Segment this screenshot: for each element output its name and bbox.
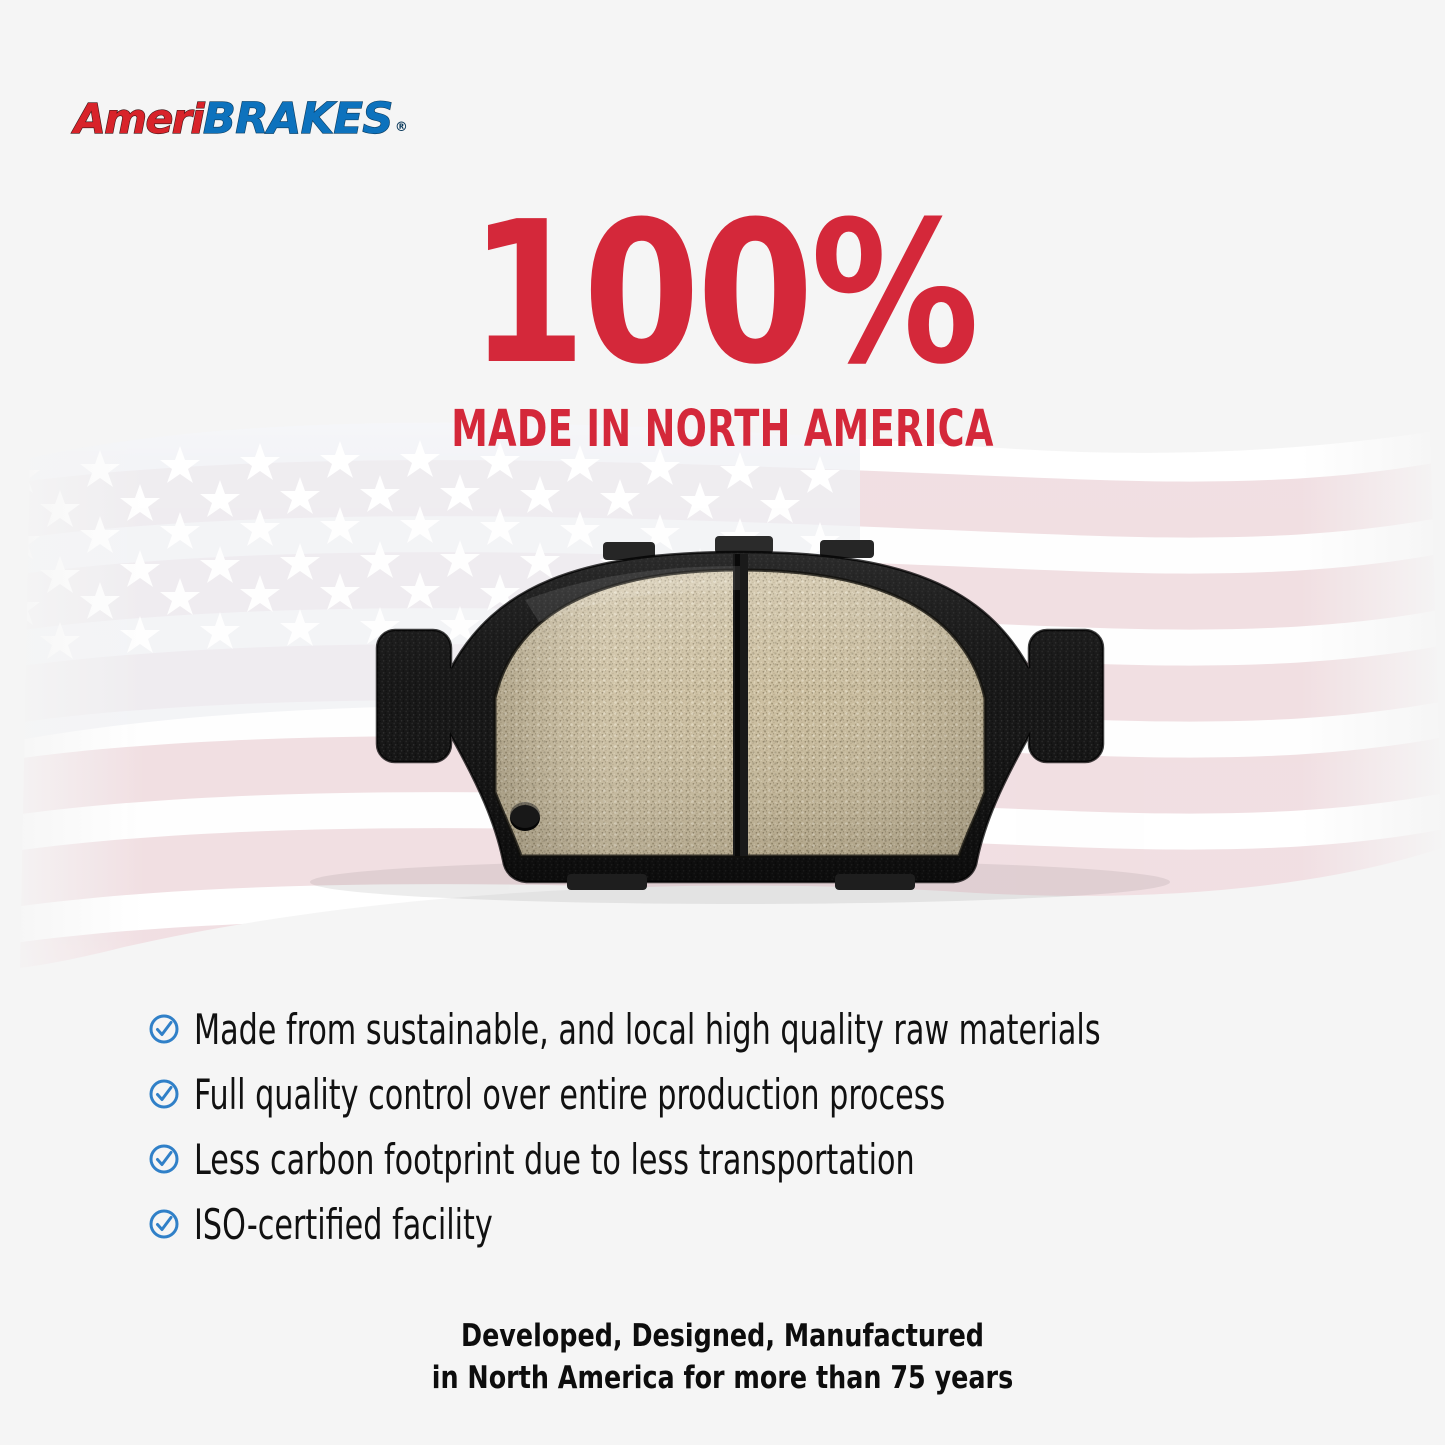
headline-percent: 100%: [101, 196, 1344, 392]
list-item: Full quality control over entire product…: [148, 1068, 1348, 1133]
check-circle-icon: [148, 1078, 180, 1110]
list-item-label: Full quality control over entire product…: [194, 1068, 945, 1122]
list-item: Less carbon footprint due to less transp…: [148, 1133, 1348, 1198]
check-circle-icon: [148, 1013, 180, 1045]
list-item-label: Made from sustainable, and local high qu…: [194, 1003, 1101, 1057]
list-item-label: ISO-certified facility: [194, 1198, 493, 1252]
footer-tagline: Developed, Designed, Manufactured in Nor…: [0, 1315, 1445, 1399]
list-item-label: Less carbon footprint due to less transp…: [194, 1133, 915, 1187]
brake-pad-mounting-hole: [510, 802, 540, 831]
brake-pad-product-image: [195, 530, 1285, 960]
list-item: Made from sustainable, and local high qu…: [148, 1003, 1348, 1068]
brand-logo[interactable]: Ameri BRAKES ®: [74, 98, 408, 141]
list-item: ISO-certified facility: [148, 1198, 1348, 1263]
feature-bullet-list: Made from sustainable, and local high qu…: [148, 1003, 1348, 1263]
logo-text-ameri: Ameri: [74, 99, 203, 140]
footer-line-2: in North America for more than 75 years: [130, 1357, 1315, 1399]
headline-block: 100% MADE IN NORTH AMERICA: [0, 196, 1445, 455]
logo-text-brakes: BRAKES: [203, 98, 393, 141]
check-circle-icon: [148, 1143, 180, 1175]
brake-pad-svg: [195, 530, 1285, 960]
headline-subtitle: MADE IN NORTH AMERICA: [202, 404, 1242, 455]
brake-pad-center-slot: [733, 554, 748, 856]
footer-line-1: Developed, Designed, Manufactured: [130, 1315, 1315, 1357]
check-circle-icon: [148, 1208, 180, 1240]
promo-page: Ameri BRAKES ® 100% MADE IN NORTH AMERIC…: [0, 0, 1445, 1445]
registered-trademark-icon: ®: [395, 121, 408, 134]
